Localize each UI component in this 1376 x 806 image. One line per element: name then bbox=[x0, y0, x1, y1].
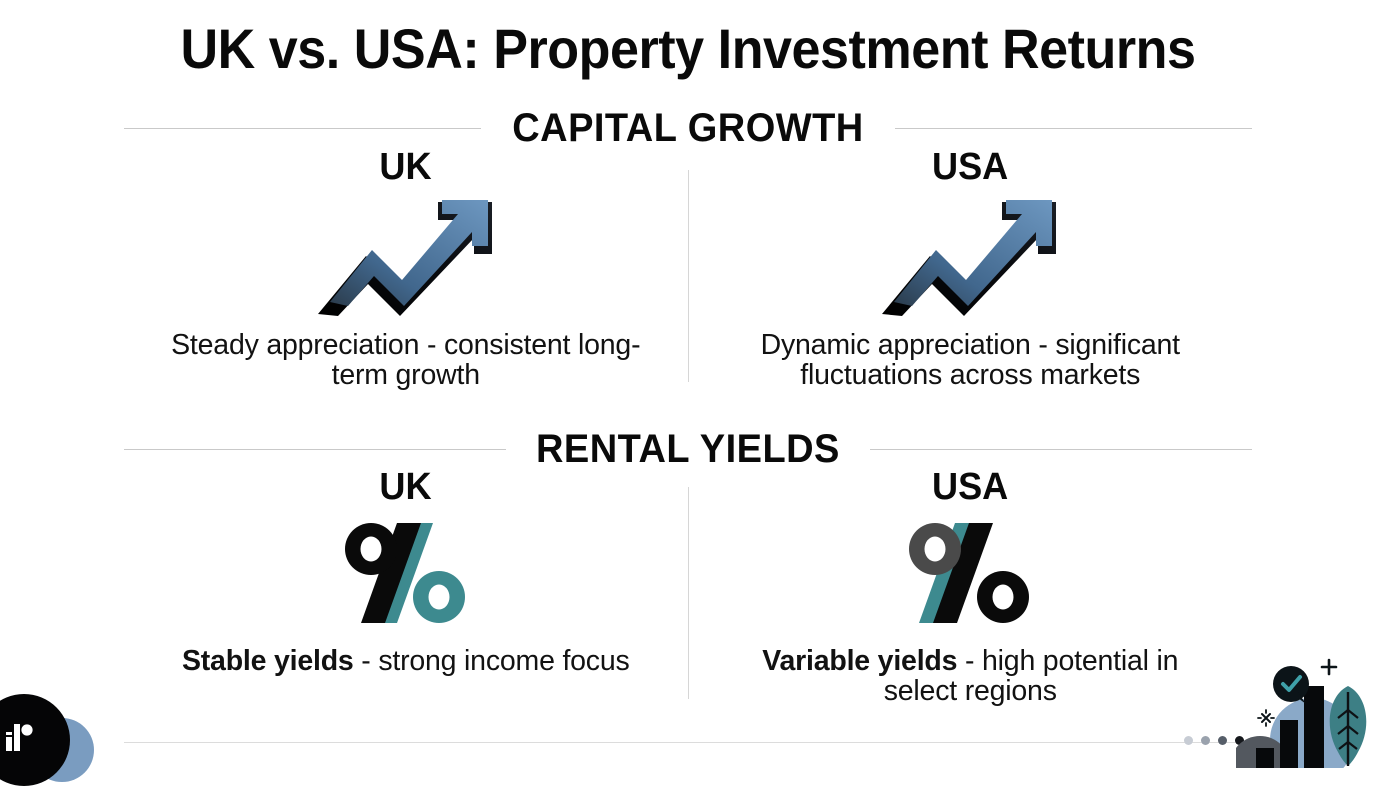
column-caption-rental-usa: Variable yields - high potential in sele… bbox=[735, 646, 1205, 706]
growth-arrow-icon bbox=[880, 198, 1060, 316]
percent-icon-uk-wrap bbox=[341, 514, 471, 632]
brand-logo-mark bbox=[4, 720, 34, 754]
plus-icon bbox=[1322, 660, 1336, 674]
section-label-rental-yields: RENTAL YIELDS bbox=[536, 427, 840, 471]
caption-rest: - strong income focus bbox=[354, 645, 630, 677]
page-title: UK vs. USA: Property Investment Returns bbox=[48, 14, 1328, 84]
check-bubble-icon bbox=[1273, 666, 1309, 704]
section-header-rental-yields: RENTAL YIELDS bbox=[124, 427, 1252, 471]
column-title-usa: USA bbox=[932, 146, 1008, 188]
column-title-usa: USA bbox=[932, 466, 1008, 508]
section-header-capital-growth: CAPITAL GROWTH bbox=[124, 106, 1252, 150]
panel-rental-yields: UK Stable yields - strong income focus bbox=[124, 466, 1252, 706]
sparkle-icon bbox=[1258, 710, 1274, 726]
section-rule-left bbox=[124, 449, 506, 450]
column-rental-yields-uk: UK Stable yields - strong income focus bbox=[124, 466, 688, 706]
growth-arrow-icon-usa-wrap bbox=[880, 194, 1060, 320]
footer-progress-dots bbox=[1184, 736, 1244, 745]
bar-chart-leaf-illustration bbox=[1236, 648, 1376, 768]
column-rental-yields-usa: USA Variable yields - high potential in … bbox=[689, 466, 1253, 706]
progress-dot-2 bbox=[1201, 736, 1210, 745]
section-label-capital-growth: CAPITAL GROWTH bbox=[512, 106, 863, 150]
column-title-uk: UK bbox=[380, 146, 432, 188]
column-caption-capital-uk: Steady appreciation - consistent long-te… bbox=[171, 330, 641, 390]
growth-arrow-icon-uk-wrap bbox=[316, 194, 496, 320]
deco-svg bbox=[1236, 648, 1376, 768]
column-title-uk: UK bbox=[380, 466, 432, 508]
brand-logo bbox=[0, 694, 90, 806]
column-capital-growth-uk: UK bbox=[124, 146, 688, 391]
caption-emphasis: Variable yields bbox=[762, 645, 957, 677]
footer-divider bbox=[124, 742, 1252, 743]
section-rule-right bbox=[895, 128, 1252, 129]
section-rule-right bbox=[870, 449, 1252, 450]
progress-dot-3 bbox=[1218, 736, 1227, 745]
caption-emphasis: Stable yields bbox=[182, 645, 354, 677]
percent-icon-usa-wrap bbox=[905, 514, 1035, 632]
percent-icon bbox=[905, 519, 1035, 627]
growth-arrow-icon bbox=[316, 198, 496, 316]
progress-dot-1 bbox=[1184, 736, 1193, 745]
column-caption-rental-uk: Stable yields - strong income focus bbox=[182, 646, 630, 676]
column-caption-capital-usa: Dynamic appreciation - significant fluct… bbox=[735, 330, 1205, 390]
slide-canvas: UK vs. USA: Property Investment Returns … bbox=[0, 0, 1376, 768]
panel-capital-growth: UK bbox=[124, 146, 1252, 391]
column-capital-growth-usa: USA Dynamic appreciation - significant f… bbox=[689, 146, 1253, 391]
percent-icon bbox=[341, 519, 471, 627]
section-rule-left bbox=[124, 128, 481, 129]
